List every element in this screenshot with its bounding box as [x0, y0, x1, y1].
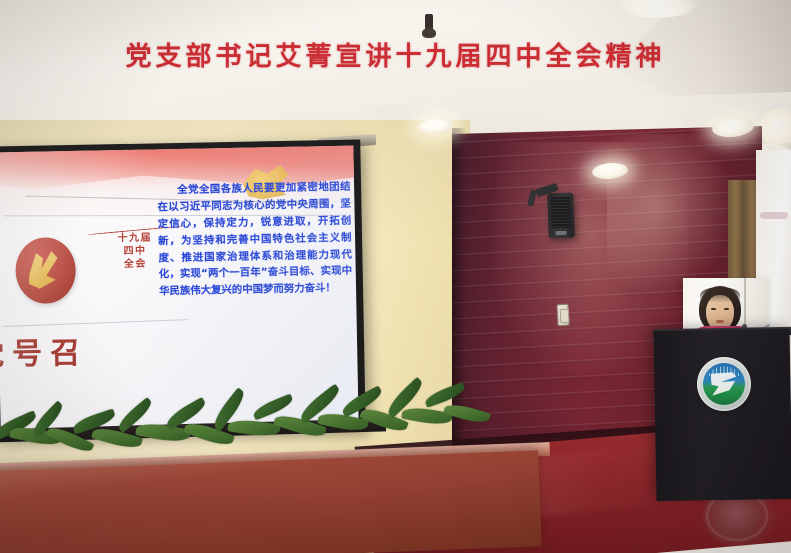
crest-outer-ring [697, 357, 751, 411]
wall-mounted-loudspeaker [547, 193, 575, 239]
party-emblem-hammer-sickle [15, 237, 76, 304]
light-switch[interactable] [556, 304, 569, 327]
presenter-eye [711, 308, 716, 310]
photo-canvas: 十九届 四中 全会 党号召 全党全国各族人民要更加紧密地团结在以习近平同志为核心… [0, 0, 791, 553]
presenter-hair-fringe [700, 287, 740, 303]
photo-title-overlay: 党支部书记艾菁宣讲十九届四中全会精神 [0, 36, 791, 73]
institution-crest-logo [697, 357, 751, 411]
slide-divider-line [2, 319, 188, 327]
wall-light-glow [607, 134, 731, 294]
slide-body-text: 全党全国各族人民要更加紧密地团结在以习近平同志为核心的党中央周围，坚定信心，保持… [157, 179, 353, 301]
speaker-badge [556, 231, 567, 235]
speaker-grill [550, 197, 571, 229]
hammer-sickle-icon [26, 248, 65, 292]
ceiling-mount-bracket [425, 14, 433, 32]
speaker-podium [654, 329, 791, 501]
presenter-eye [724, 308, 729, 310]
presenter-mouth [716, 320, 724, 323]
